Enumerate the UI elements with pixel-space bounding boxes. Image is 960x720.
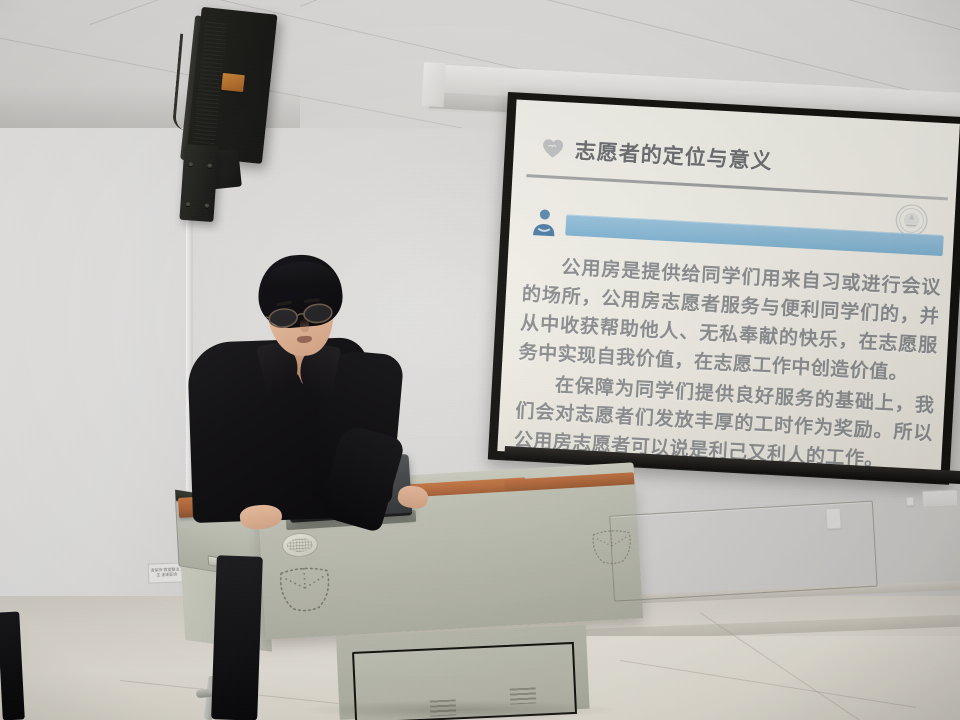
slide-title: 志愿者的定位与意义 (574, 135, 773, 176)
wall-outlet-small[interactable] (906, 497, 914, 506)
speaker-wall-bracket (179, 144, 218, 222)
slide-accent-bar (565, 214, 944, 256)
podium-floor-shadow (300, 700, 620, 720)
slide-paragraph-1: 公用房是提供给同学们用来自习或进行会议的场所，公用房志愿者服务与便利同学们的，并… (518, 252, 942, 390)
podium-vent-icon (273, 560, 338, 615)
podium-vent-icon-right (587, 524, 637, 569)
projection-screen: 志愿者的定位与意义 公用房是提供给同学们用来自习或 (488, 92, 960, 485)
podium-front-inset (609, 501, 878, 602)
heart-icon (541, 138, 564, 159)
classroom-photo: 志愿者的定位与意义 公用房是提供给同学们用来自习或 (0, 0, 960, 720)
slide-body: 公用房是提供给同学们用来自习或进行会议的场所，公用房志愿者服务与便利同学们的，并… (513, 252, 942, 475)
floor-step (560, 636, 960, 720)
projector-screen-housing-endcap (422, 62, 446, 107)
presentation-slide: 志愿者的定位与意义 公用房是提供给同学们用来自习或 (497, 99, 960, 475)
dark-object-behind-podium (211, 555, 263, 720)
wall-notice-text: 请保持 教室整洁卫生 谢谢配合 (149, 568, 185, 578)
wall-outlet[interactable] (922, 489, 959, 507)
screen-surface: 志愿者的定位与意义 公用房是提供给同学们用来自习或 (497, 99, 960, 475)
speaker-brand-badge (221, 73, 245, 92)
volunteer-person-icon (531, 207, 560, 238)
